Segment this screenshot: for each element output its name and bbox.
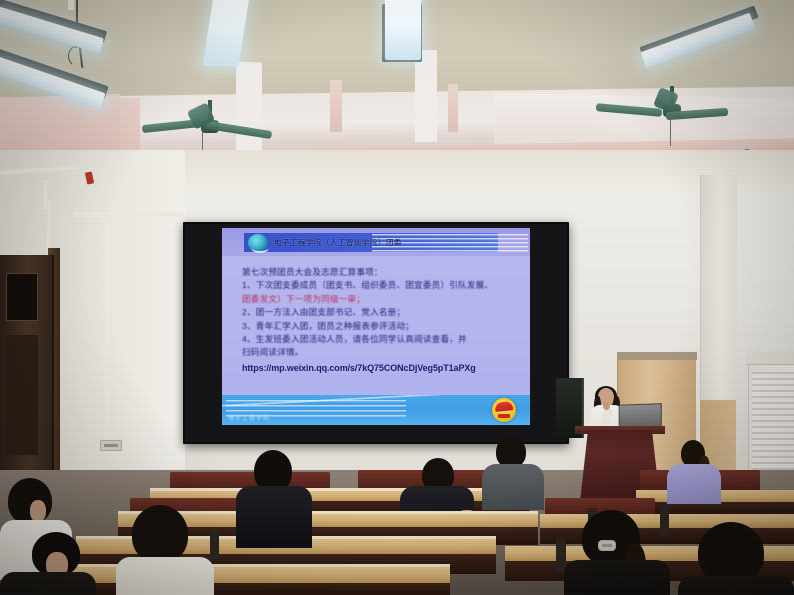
slide-url: https://mp.weixin.qq.com/s/7kQ75CONcDjVe…	[242, 363, 520, 373]
brain-circle-logo-icon	[248, 234, 268, 252]
student-hair-clip	[598, 540, 616, 551]
student-bottom-center-light	[108, 505, 212, 595]
wall-conduit-horizontal	[74, 212, 184, 217]
student-mid-left-dark	[236, 450, 312, 530]
slide-line-0: 第七次预团员大会及志愿汇算事项：	[242, 266, 520, 279]
ceiling-drop-right	[415, 50, 437, 142]
student-right-purple-shirt	[665, 440, 721, 496]
door-window-pane	[6, 273, 38, 321]
slide-body: 第七次预团员大会及志愿汇算事项： 1、下次团支委成员（团支书、组织委员、团宣委员…	[242, 266, 520, 373]
student-face	[30, 500, 46, 522]
wall-power-socket-left	[100, 440, 122, 451]
student-back-grey-shirt	[482, 440, 544, 502]
student-torso	[482, 464, 544, 510]
wall-conduit-a	[44, 180, 47, 210]
communist-youth-league-emblem-icon	[492, 398, 516, 422]
student-torso	[116, 557, 214, 595]
ceiling-pink-strip-d	[448, 84, 458, 132]
student-bottom-right-dark	[558, 510, 668, 595]
student-torso	[564, 560, 670, 595]
student-torso	[667, 464, 721, 504]
presenter-hand	[603, 402, 610, 410]
ceiling-fan-left	[150, 100, 270, 148]
ac-top-panel	[746, 352, 794, 365]
door-lower-panel	[6, 335, 38, 455]
presentation-slide: 电子工程学院（人工智能学院）团委 第七次预团员大会及志愿汇算事项： 1、下次团支…	[222, 228, 530, 425]
slide-line-5: 4、生发班委入团活动人员，请各位同学认真阅读查看，并	[242, 333, 520, 346]
student-front-left-white-shirt	[0, 532, 96, 595]
wall-conduit-d	[105, 222, 109, 452]
slide-header-title: 电子工程学院（人工智能学院）团委	[274, 237, 489, 248]
slide-footer-text: 电子工程学院	[228, 413, 270, 422]
door-header-trim	[617, 352, 697, 360]
slide-line-4: 3、青年汇学入团，团员之种报表参评活动；	[242, 320, 520, 333]
classroom-door-left[interactable]	[0, 255, 54, 495]
slide-line-6: 扫码阅读详情。	[242, 346, 520, 359]
fluorescent-light-center	[385, 0, 421, 60]
student-torso	[236, 486, 312, 548]
lecture-hall-photo: 电子工程学院（人工智能学院）团委 第七次预团员大会及志愿汇算事项： 1、下次团支…	[0, 0, 794, 595]
student-bottom-far-right	[678, 522, 794, 595]
ceiling-pink-strip-c	[330, 80, 342, 132]
slide-footer: 电子工程学院	[222, 395, 530, 425]
fan-pull-cord	[670, 116, 671, 146]
fan-blade-right	[206, 121, 272, 139]
slide-line-1: 1、下次团支委成员（团支书、组织委员、团宣委员）引队发展、	[242, 279, 520, 292]
slide-line-2: 团委发文）下一项为同级一审；	[242, 293, 520, 306]
student-head	[698, 522, 764, 584]
ceiling-fan-right	[612, 86, 732, 134]
ceiling-conduit-head	[68, 0, 74, 10]
slide-line-3: 2、团一方法入由团支部书记、党入名册；	[242, 306, 520, 319]
student-torso	[0, 572, 96, 595]
student-head	[132, 505, 188, 563]
student-torso	[678, 576, 794, 595]
slide-header: 电子工程学院（人工智能学院）团委	[222, 228, 530, 256]
